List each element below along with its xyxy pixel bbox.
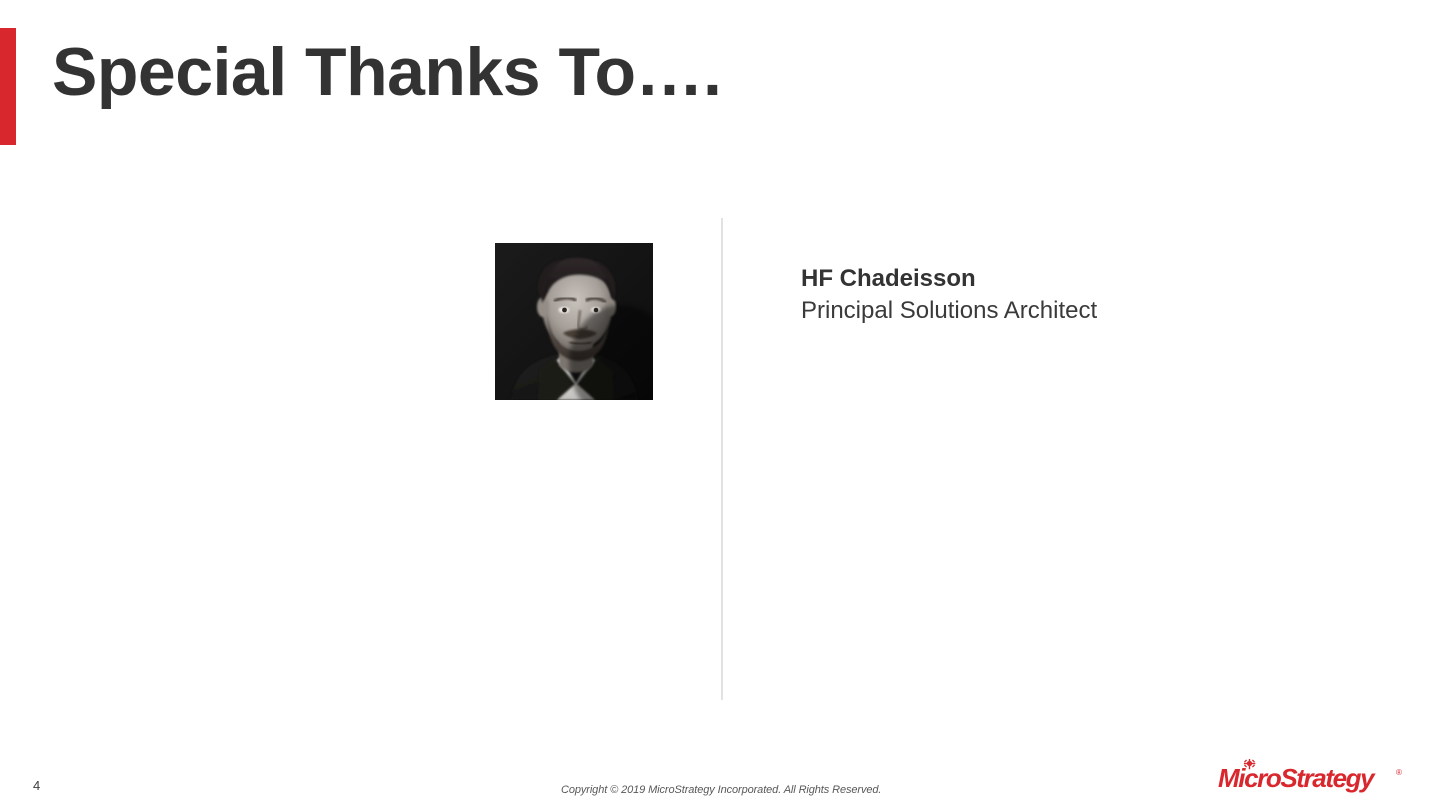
svg-text:MicroStrategy: MicroStrategy	[1218, 763, 1376, 793]
microstrategy-logo-icon: MicroStrategy ®	[1218, 759, 1418, 795]
microstrategy-logo: MicroStrategy ®	[1218, 759, 1418, 795]
title-accent-bar	[0, 28, 16, 145]
portrait-illustration	[495, 243, 653, 400]
copyright-text: Copyright © 2019 MicroStrategy Incorpora…	[561, 784, 881, 796]
person-info: HF Chadeisson Principal Solutions Archit…	[801, 263, 1097, 327]
avatar	[495, 243, 653, 400]
person-role: Principal Solutions Architect	[801, 295, 1097, 327]
slide-canvas: Special Thanks To….	[0, 0, 1440, 810]
page-number: 4	[33, 778, 40, 793]
person-name: HF Chadeisson	[801, 263, 1097, 295]
vertical-divider	[721, 218, 723, 700]
svg-text:®: ®	[1396, 768, 1402, 777]
page-title: Special Thanks To….	[52, 38, 721, 106]
